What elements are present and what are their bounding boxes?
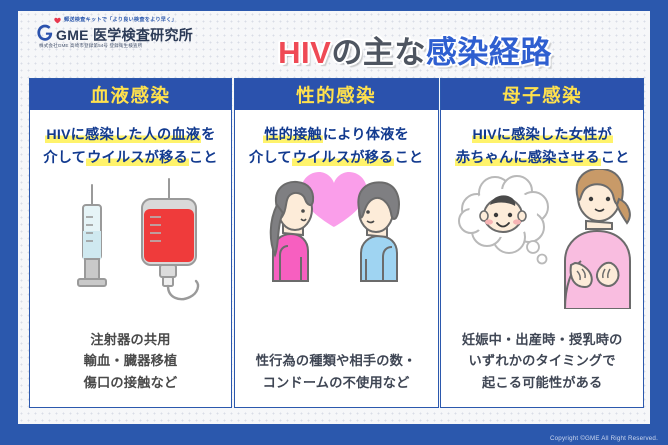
column-heading-label: 血液感染 xyxy=(90,82,170,108)
footer-line: 注射器の共用 xyxy=(30,329,231,350)
desc-line: 性的接触により体液を xyxy=(263,125,409,146)
illustration-pregnant-woman-baby xyxy=(441,169,643,329)
column-heading-blood: 血液感染 xyxy=(30,79,231,110)
desc-line: 赤ちゃんに感染させること xyxy=(455,148,630,169)
footer-line: いずれかのタイミングで xyxy=(441,350,643,371)
column-heading-mother-child: 母子感染 xyxy=(441,79,643,110)
footer-line: 起こる可能性がある xyxy=(441,372,643,393)
illustration-couple-heart xyxy=(235,169,438,350)
title-part-middle: の主な xyxy=(331,35,426,70)
logo-brand: GME 医学検査研究所 xyxy=(38,25,193,45)
column-footer-sexual: 性行為の種類や相手の数・ コンドームの不使用など xyxy=(235,350,438,407)
column-sexual-infection: 性的感染 性的接触により体液を 介してウイルスが移ること xyxy=(234,78,439,408)
title-part-hiv: HIV xyxy=(278,35,331,70)
desc-line: HIVに感染した女性が xyxy=(472,125,613,146)
footer-line: 性行為の種類や相手の数・ xyxy=(235,350,438,371)
column-footer-blood: 注射器の共用 輸血・臓器移植 傷口の接触など xyxy=(30,329,231,407)
footer-line: 輸血・臓器移植 xyxy=(30,350,231,371)
heart-icon xyxy=(54,17,61,24)
infographic-poster: 郵送検査キットで「より良い検査をより早く」 GME 医学検査研究所 株式会社GM… xyxy=(0,0,668,445)
poster-header: 郵送検査キットで「より良い検査をより早く」 GME 医学検査研究所 株式会社GM… xyxy=(18,11,650,73)
logo-tagline: 郵送検査キットで「より良い検査をより早く」 xyxy=(64,16,177,23)
gme-logo: 郵送検査キットで「より良い検査をより早く」 GME 医学検査研究所 株式会社GM… xyxy=(30,14,190,62)
footer-line: 傷口の接触など xyxy=(30,372,231,393)
transmission-columns: 血液感染 HIVに感染した人の血液を 介してウイルスが移ること xyxy=(29,78,639,408)
footer-line: コンドームの不使用など xyxy=(235,372,438,393)
footer-line: 妊娠中・出産時・授乳時の xyxy=(441,329,643,350)
desc-line: HIVに感染した人の血液を xyxy=(45,125,215,146)
illustration-syringe-blood-bag xyxy=(30,169,231,329)
column-footer-mother-child: 妊娠中・出産時・授乳時の いずれかのタイミングで 起こる可能性がある xyxy=(441,329,643,407)
column-heading-sexual: 性的感染 xyxy=(235,79,438,110)
column-blood-infection: 血液感染 HIVに感染した人の血液を 介してウイルスが移ること xyxy=(29,78,232,408)
title-part-route: 感染経路 xyxy=(426,35,552,70)
column-mother-to-child-infection: 母子感染 HIVに感染した女性が 赤ちゃんに感染させること xyxy=(440,78,644,408)
column-heading-label: 母子感染 xyxy=(502,82,582,108)
column-description-mother-child: HIVに感染した女性が 赤ちゃんに感染させること xyxy=(441,110,643,169)
copyright-notice: Copyright ©GME All Right Reserved. xyxy=(550,435,658,442)
desc-line: 介してウイルスが移ること xyxy=(43,148,217,169)
logo-registration: 株式会社GME 高崎市登録第54号 登録衛生検査所 xyxy=(39,43,142,49)
page-title: HIVの主な感染経路 xyxy=(192,27,638,71)
desc-line: 介してウイルスが移ること xyxy=(249,148,423,169)
column-description-blood: HIVに感染した人の血液を 介してウイルスが移ること xyxy=(30,110,231,169)
column-heading-label: 性的感染 xyxy=(296,82,376,108)
column-description-sexual: 性的接触により体液を 介してウイルスが移ること xyxy=(235,110,438,169)
